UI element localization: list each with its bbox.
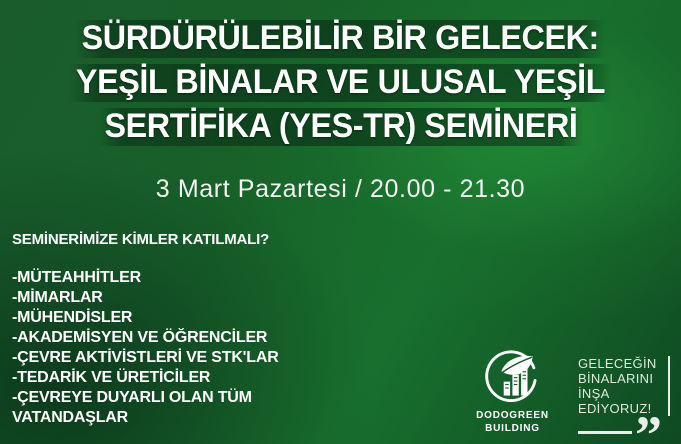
title-line-3-text: SERTİFİKA (YES-TR) SEMİNERİ (98, 108, 582, 146)
list-item: -TEDARİK VE ÜRETİCİLER (12, 368, 279, 388)
audience-list: -MÜTEAHHİTLER -MİMARLAR -MÜHENDİSLER -AK… (12, 268, 279, 428)
title-line-3: SERTİFİKA (YES-TR) SEMİNERİ (0, 108, 681, 146)
slogan-horizontal-divider (578, 431, 632, 434)
slogan-vertical-divider (668, 356, 670, 416)
list-item: -AKADEMİSYEN VE ÖĞRENCİLER (12, 328, 279, 348)
title-line-2: YEŞİL BİNALAR VE ULUSAL YEŞİL (0, 64, 681, 102)
brand-slogan: GELECEĞİN BİNALARINI İNŞA EDİYORUZ! ” (578, 356, 681, 444)
dodogreen-leaf-building-logo-icon (484, 348, 542, 406)
quotation-mark-icon: ” (635, 408, 662, 444)
list-item: -ÇEVREYE DUYARLI OLAN TÜM (12, 388, 279, 408)
list-item: -MİMARLAR (12, 288, 279, 308)
list-item: -MÜTEAHHİTLER (12, 268, 279, 288)
title-line-1-text: SÜRDÜRÜLEBİLİR BİR GELECEK: (76, 20, 605, 58)
poster-title: SÜRDÜRÜLEBİLİR BİR GELECEK: YEŞİL BİNALA… (0, 20, 681, 152)
audience-question-heading: SEMİNERİMİZE KİMLER KATILMALI? (12, 231, 269, 248)
event-datetime: 3 Mart Pazartesi / 20.00 - 21.30 (0, 175, 681, 204)
title-line-1: SÜRDÜRÜLEBİLİR BİR GELECEK: (0, 20, 681, 58)
brand-logo: DODOGREEN BUILDING (455, 348, 570, 435)
slogan-line-3: İNŞA (578, 386, 664, 401)
logo-name-line-1: DODOGREEN (455, 409, 570, 422)
logo-name-line-2: BUILDING (455, 422, 570, 435)
list-item: VATANDAŞLAR (12, 408, 279, 428)
slogan-line-1: GELECEĞİN (578, 356, 664, 371)
title-line-2-text: YEŞİL BİNALAR VE ULUSAL YEŞİL (70, 64, 611, 102)
seminar-poster: SÜRDÜRÜLEBİLİR BİR GELECEK: YEŞİL BİNALA… (0, 0, 681, 444)
list-item: -MÜHENDİSLER (12, 308, 279, 328)
slogan-line-2: BİNALARINI (578, 371, 664, 386)
list-item: -ÇEVRE AKTİVİSTLERİ VE STK'LAR (12, 348, 279, 368)
